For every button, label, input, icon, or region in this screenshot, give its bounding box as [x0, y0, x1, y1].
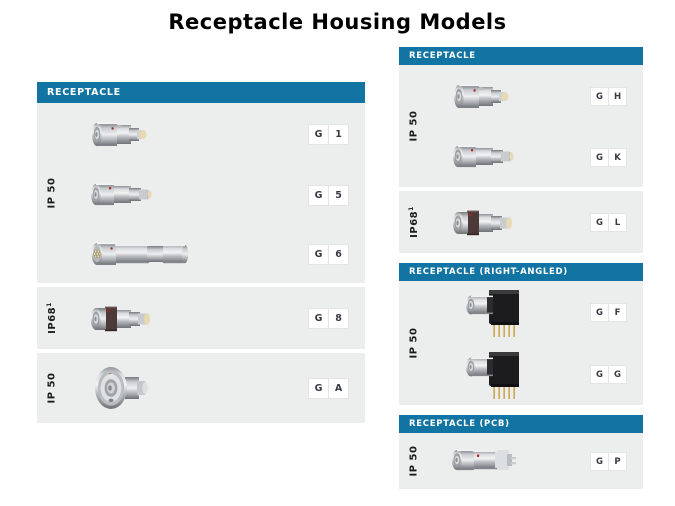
- ip-group: IP681G8: [37, 287, 365, 349]
- model-rows: GP: [429, 433, 643, 489]
- model-code-suffix: 6: [328, 245, 348, 264]
- connector-image: [67, 233, 197, 275]
- model-code-cell: G6: [308, 244, 365, 265]
- model-code-prefix: G: [591, 88, 608, 105]
- receptacle-section: RECEPTACLEIP 50GHGKIP681GL: [399, 47, 643, 253]
- model-row[interactable]: GL: [429, 191, 643, 253]
- receptacle-panel-right: RECEPTACLEIP 50GHGKIP681GLRECEPTACLE (RI…: [399, 47, 643, 489]
- connector-image: [429, 284, 533, 340]
- model-code-cell: GA: [308, 378, 365, 399]
- model-code-prefix: G: [591, 453, 608, 470]
- model-code-prefix: G: [309, 379, 328, 398]
- ip-rating-footnote-marker: 1: [46, 302, 53, 307]
- ip-rating-label: IP 50: [47, 373, 58, 404]
- model-code-cell: G5: [308, 185, 365, 206]
- connector-image: [429, 198, 523, 246]
- section-header-label: RECEPTACLE: [409, 52, 476, 61]
- sealed-receptacle-icon: [447, 198, 523, 246]
- straight-receptacle-medium-icon: [447, 134, 523, 180]
- ip-rating-label: IP681: [408, 206, 420, 238]
- model-code-cell: GG: [590, 364, 643, 385]
- ip-group: IP681GL: [399, 191, 643, 253]
- straight-receptacle-long-icon: [85, 233, 197, 275]
- model-code-badge[interactable]: G8: [308, 308, 349, 329]
- model-code-prefix: G: [309, 309, 328, 328]
- ip-rating-label-column: IP681: [399, 191, 429, 253]
- model-code-cell: GK: [590, 147, 643, 168]
- receptacle-panel-left: RECEPTACLEIP 50G1G5G6IP681G8IP 50GA: [37, 82, 365, 423]
- right-angled-receptacle-icon: [447, 346, 533, 402]
- model-rows: GA: [67, 353, 365, 423]
- ip-group: IP 50GFGG: [399, 281, 643, 405]
- connector-image: [429, 71, 519, 121]
- ip-rating-text: IP68: [47, 307, 58, 334]
- model-code-cell: GF: [590, 302, 643, 323]
- model-code-badge[interactable]: GF: [590, 303, 627, 322]
- ip-group: IP 50G1G5G6: [37, 103, 365, 283]
- model-code-suffix: L: [608, 214, 626, 231]
- model-code-suffix: K: [608, 149, 626, 166]
- connector-image: [67, 172, 161, 218]
- ip-rating-text: IP 50: [409, 328, 420, 359]
- connector-image: [67, 294, 161, 342]
- ip-rating-label-column: IP 50: [399, 433, 429, 489]
- connector-image: [67, 357, 163, 419]
- model-code-prefix: G: [591, 304, 608, 321]
- ip-group: IP 50GHGK: [399, 65, 643, 187]
- model-code-badge[interactable]: G1: [308, 124, 349, 145]
- model-code-badge[interactable]: G5: [308, 185, 349, 206]
- model-code-cell: G8: [308, 308, 365, 329]
- model-rows: GHGK: [429, 65, 643, 187]
- model-code-cell: GH: [590, 86, 643, 107]
- model-code-cell: GP: [590, 451, 643, 472]
- model-code-prefix: G: [309, 245, 328, 264]
- model-rows: G1G5G6: [67, 103, 365, 283]
- model-row[interactable]: G5: [67, 165, 365, 225]
- model-code-prefix: G: [591, 149, 608, 166]
- model-code-badge[interactable]: GK: [590, 148, 627, 167]
- model-code-prefix: G: [591, 366, 608, 383]
- model-code-badge[interactable]: GH: [590, 87, 627, 106]
- ip-group: IP 50GP: [399, 433, 643, 489]
- right-angled-receptacle-icon: [447, 284, 533, 340]
- ip-rating-label-column: IP 50: [37, 353, 67, 423]
- ip-rating-text: IP 50: [409, 446, 420, 477]
- model-code-badge[interactable]: GP: [590, 452, 627, 471]
- model-code-badge[interactable]: GA: [308, 378, 349, 399]
- model-row[interactable]: GG: [429, 343, 643, 405]
- model-row[interactable]: G1: [67, 103, 365, 165]
- page-title: Receptacle Housing Models: [0, 10, 675, 34]
- model-row[interactable]: GP: [429, 433, 643, 489]
- connector-image: [429, 134, 523, 180]
- model-code-suffix: G: [608, 366, 626, 383]
- ip-rating-label-column: IP 50: [399, 281, 429, 405]
- section-header: RECEPTACLE (RIGHT-ANGLED): [399, 263, 643, 281]
- ip-rating-label: IP 50: [409, 446, 420, 477]
- model-code-suffix: F: [608, 304, 626, 321]
- ip-rating-label: IP 50: [47, 178, 58, 209]
- sealed-receptacle-icon: [85, 294, 161, 342]
- model-row[interactable]: GA: [67, 353, 365, 423]
- ip-rating-text: IP68: [409, 211, 420, 238]
- ip-group: IP 50GA: [37, 353, 365, 423]
- straight-receptacle-medium-icon: [85, 172, 161, 218]
- pcb-receptacle-icon: [447, 441, 525, 481]
- model-code-badge[interactable]: G6: [308, 244, 349, 265]
- ip-rating-label-column: IP 50: [399, 65, 429, 187]
- model-row[interactable]: GF: [429, 281, 643, 343]
- model-code-suffix: 5: [328, 186, 348, 205]
- model-code-cell: GL: [590, 212, 643, 233]
- model-row[interactable]: G8: [67, 287, 365, 349]
- ip-rating-label: IP681: [46, 302, 58, 334]
- ip-rating-text: IP 50: [47, 373, 58, 404]
- ip-rating-label-column: IP681: [37, 287, 67, 349]
- straight-receptacle-short-icon: [447, 71, 519, 121]
- section-header-label: RECEPTACLE (PCB): [409, 420, 510, 429]
- model-code-prefix: G: [309, 125, 328, 144]
- model-code-badge[interactable]: GG: [590, 365, 627, 384]
- connector-image: [429, 346, 533, 402]
- model-row[interactable]: G6: [67, 225, 365, 283]
- model-code-suffix: 8: [328, 309, 348, 328]
- ip-rating-label: IP 50: [409, 111, 420, 142]
- straight-receptacle-short-icon: [85, 109, 157, 159]
- flange-receptacle-icon: [85, 357, 163, 419]
- ip-rating-text: IP 50: [409, 111, 420, 142]
- model-code-suffix: 1: [328, 125, 348, 144]
- model-rows: GL: [429, 191, 643, 253]
- connector-image: [429, 441, 525, 481]
- model-code-badge[interactable]: GL: [590, 213, 627, 232]
- model-code-prefix: G: [309, 186, 328, 205]
- ip-rating-text: IP 50: [47, 178, 58, 209]
- model-code-suffix: H: [608, 88, 626, 105]
- model-code-prefix: G: [591, 214, 608, 231]
- model-code-suffix: A: [328, 379, 348, 398]
- model-row[interactable]: GH: [429, 65, 643, 127]
- model-row[interactable]: GK: [429, 127, 643, 187]
- section-header: RECEPTACLE: [399, 47, 643, 65]
- model-rows: G8: [67, 287, 365, 349]
- model-rows: GFGG: [429, 281, 643, 405]
- receptacle-section: RECEPTACLE (RIGHT-ANGLED)IP 50GFGG: [399, 263, 643, 405]
- section-header-label: RECEPTACLE: [47, 88, 121, 98]
- ip-rating-label: IP 50: [409, 328, 420, 359]
- section-header: RECEPTACLE: [37, 82, 365, 103]
- ip-rating-label-column: IP 50: [37, 103, 67, 283]
- connector-image: [67, 109, 157, 159]
- receptacle-section: RECEPTACLE (PCB)IP 50GP: [399, 415, 643, 489]
- model-code-cell: G1: [308, 124, 365, 145]
- section-header-label: RECEPTACLE (RIGHT-ANGLED): [409, 268, 568, 277]
- model-code-suffix: P: [608, 453, 626, 470]
- ip-rating-footnote-marker: 1: [408, 206, 415, 211]
- section-header: RECEPTACLE (PCB): [399, 415, 643, 433]
